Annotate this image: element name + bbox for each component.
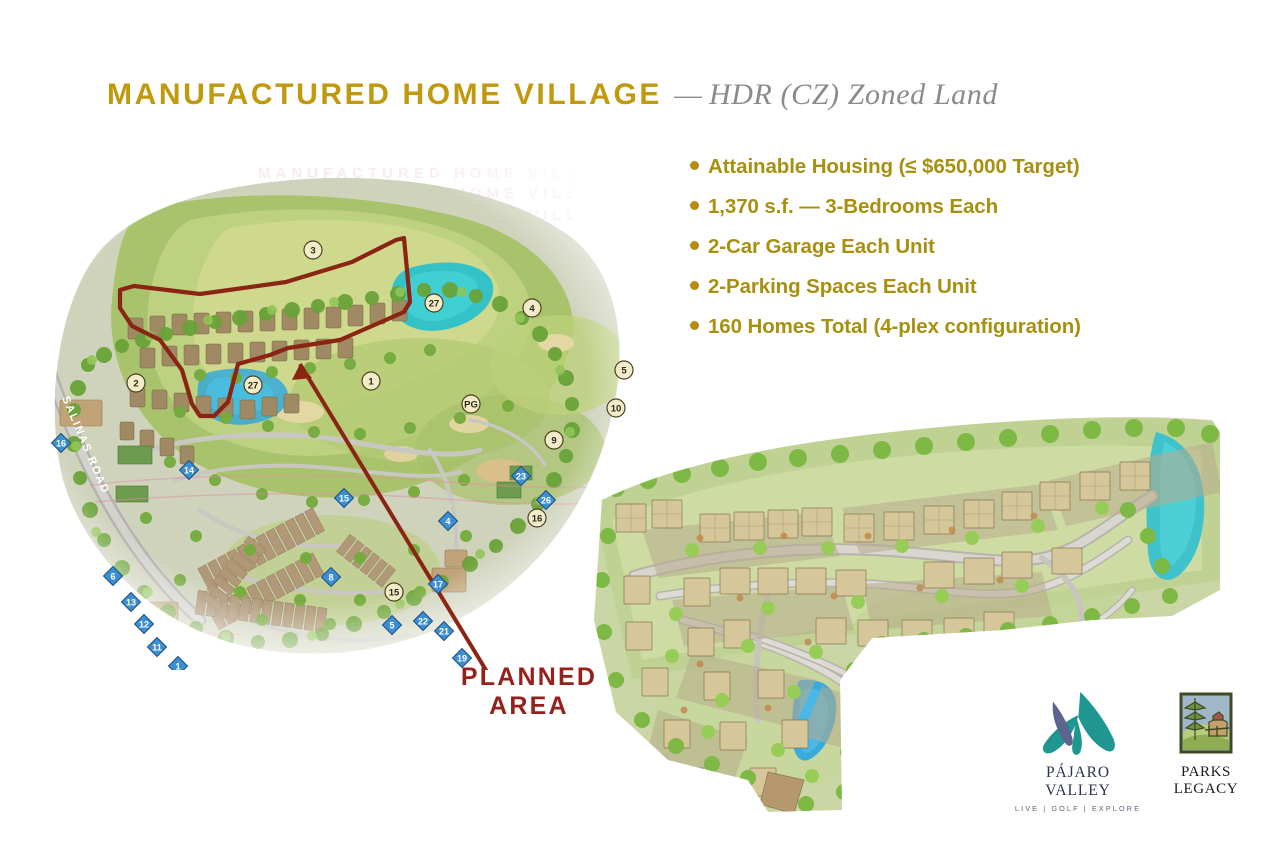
bullet-label: 2-Car Garage Each Unit — [708, 237, 935, 258]
svg-text:2: 2 — [133, 379, 138, 390]
svg-text:9: 9 — [551, 436, 556, 447]
bullet-label: 2-Parking Spaces Each Unit — [708, 277, 977, 298]
svg-text:PG: PG — [464, 400, 478, 411]
list-item: 1,370 s.f. — 3-Bedrooms Each — [690, 197, 1190, 218]
pajaro-valley-tagline: LIVE | GOLF | EXPLORE — [1013, 804, 1143, 813]
svg-text:21: 21 — [439, 626, 449, 636]
list-item: 160 Homes Total (4-plex configuration) — [690, 317, 1190, 338]
svg-text:23: 23 — [516, 471, 526, 481]
circle-marker[interactable]: 15 — [385, 583, 403, 601]
circle-marker[interactable]: 1 — [362, 372, 380, 390]
circle-marker[interactable]: 2 — [127, 374, 145, 392]
circle-marker[interactable]: PG — [462, 395, 480, 413]
bullet-label: Attainable Housing (≤ $650,000 Target) — [708, 157, 1080, 178]
svg-text:3: 3 — [310, 246, 315, 257]
parks-legacy-line1: PARKS — [1158, 764, 1254, 781]
svg-text:4: 4 — [445, 516, 450, 526]
planned-area-line1: PLANNED — [434, 663, 624, 692]
title-subtitle: HDR (CZ) Zoned Land — [709, 78, 998, 112]
circle-marker[interactable]: 5 — [615, 361, 633, 379]
circle-marker[interactable]: 3 — [304, 241, 322, 259]
bullet-label: 1,370 s.f. — 3-Bedrooms Each — [708, 197, 998, 218]
title-main-text: MANUFACTURED HOME VILLAGE — [107, 78, 662, 112]
svg-text:1: 1 — [368, 377, 374, 388]
site-plan-overview-map[interactable]: SALINAS ROAD 34215PG10916152727 16142326… — [0, 150, 640, 670]
planned-area-callout: PLANNED AREA — [434, 663, 624, 722]
svg-text:11: 11 — [152, 642, 162, 652]
svg-text:13: 13 — [126, 597, 136, 607]
bullet-dot-icon — [690, 281, 699, 290]
svg-text:16: 16 — [56, 438, 66, 448]
svg-text:12: 12 — [139, 619, 149, 629]
svg-text:26: 26 — [541, 495, 551, 505]
svg-text:17: 17 — [433, 579, 443, 589]
pajaro-valley-bird-icon — [1020, 688, 1137, 758]
pajaro-valley-logo: PÁJARO VALLEY LIVE | GOLF | EXPLORE — [1013, 688, 1143, 806]
circle-marker[interactable]: 9 — [545, 431, 563, 449]
svg-text:22: 22 — [418, 616, 428, 626]
svg-text:16: 16 — [532, 514, 543, 525]
bullet-dot-icon — [690, 161, 699, 170]
pajaro-valley-name: PÁJARO VALLEY — [1013, 764, 1143, 800]
list-item: 2-Car Garage Each Unit — [690, 237, 1190, 258]
bullet-dot-icon — [690, 321, 699, 330]
svg-text:4: 4 — [529, 304, 535, 315]
bullet-dot-icon — [690, 241, 699, 250]
circle-marker[interactable]: 4 — [523, 299, 541, 317]
circle-marker[interactable]: 27 — [244, 376, 262, 394]
svg-text:15: 15 — [389, 588, 400, 599]
list-item: 2-Parking Spaces Each Unit — [690, 277, 1190, 298]
svg-text:19: 19 — [457, 653, 467, 663]
svg-text:6: 6 — [110, 571, 115, 581]
svg-text:1: 1 — [175, 661, 180, 670]
page-title: MANUFACTURED HOME VILLAGE—HDR (CZ) Zoned… — [107, 78, 998, 112]
planned-area-line2: AREA — [434, 692, 624, 721]
title-dash: — — [662, 80, 709, 112]
svg-text:15: 15 — [339, 493, 349, 503]
svg-text:14: 14 — [184, 465, 194, 475]
svg-text:27: 27 — [429, 299, 440, 310]
parks-legacy-logo: PARKS LEGACY — [1158, 692, 1254, 804]
svg-text:27: 27 — [248, 381, 259, 392]
svg-text:5: 5 — [389, 620, 394, 630]
list-item: Attainable Housing (≤ $650,000 Target) — [690, 157, 1190, 178]
bullet-label: 160 Homes Total (4-plex configuration) — [708, 317, 1081, 338]
svg-text:8: 8 — [328, 572, 333, 582]
feature-bullet-list: Attainable Housing (≤ $650,000 Target) 1… — [690, 157, 1190, 357]
bullet-dot-icon — [690, 201, 699, 210]
circle-marker[interactable]: 16 — [528, 509, 546, 527]
parks-legacy-line2: LEGACY — [1158, 781, 1254, 798]
parks-legacy-landscape-icon — [1179, 692, 1233, 754]
svg-text:5: 5 — [621, 366, 627, 377]
circle-marker[interactable]: 27 — [425, 294, 443, 312]
